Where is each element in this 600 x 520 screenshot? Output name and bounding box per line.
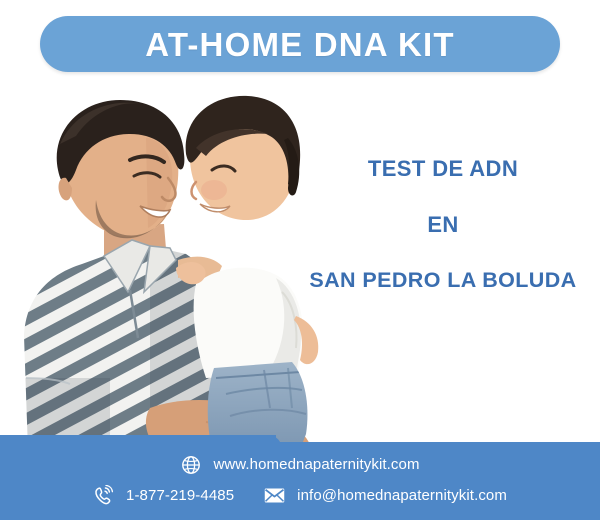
- phone-item[interactable]: 1-877-219-4485: [93, 485, 234, 506]
- headline-line-3: SAN PEDRO LA BOLUDA: [286, 270, 600, 292]
- footer-contact-bar: www.homednapaternitykit.com 1-877-219-44…: [0, 435, 600, 520]
- headline-line-2: EN: [286, 214, 600, 236]
- phone-ring-icon: [93, 485, 114, 506]
- poster-canvas: AT-HOME DNA KIT: [0, 0, 600, 520]
- headline-line-1: TEST DE ADN: [286, 158, 600, 180]
- email-item[interactable]: info@homednapaternitykit.com: [264, 485, 507, 506]
- footer-row-phone-email: 1-877-219-4485 info@homednapaternitykit.…: [0, 485, 600, 506]
- email-text: info@homednapaternitykit.com: [297, 488, 507, 503]
- family-photo: [0, 78, 330, 450]
- website-item[interactable]: www.homednapaternitykit.com: [180, 454, 419, 475]
- phone-text: 1-877-219-4485: [126, 488, 234, 503]
- page-title: AT-HOME DNA KIT: [145, 28, 454, 61]
- footer-content: www.homednapaternitykit.com 1-877-219-44…: [0, 435, 600, 520]
- website-text: www.homednapaternitykit.com: [213, 457, 419, 472]
- footer-row-website: www.homednapaternitykit.com: [0, 454, 600, 475]
- envelope-icon: [264, 485, 285, 506]
- headline-block: TEST DE ADN EN SAN PEDRO LA BOLUDA: [286, 158, 600, 292]
- globe-icon: [180, 454, 201, 475]
- header-banner: AT-HOME DNA KIT: [40, 16, 560, 72]
